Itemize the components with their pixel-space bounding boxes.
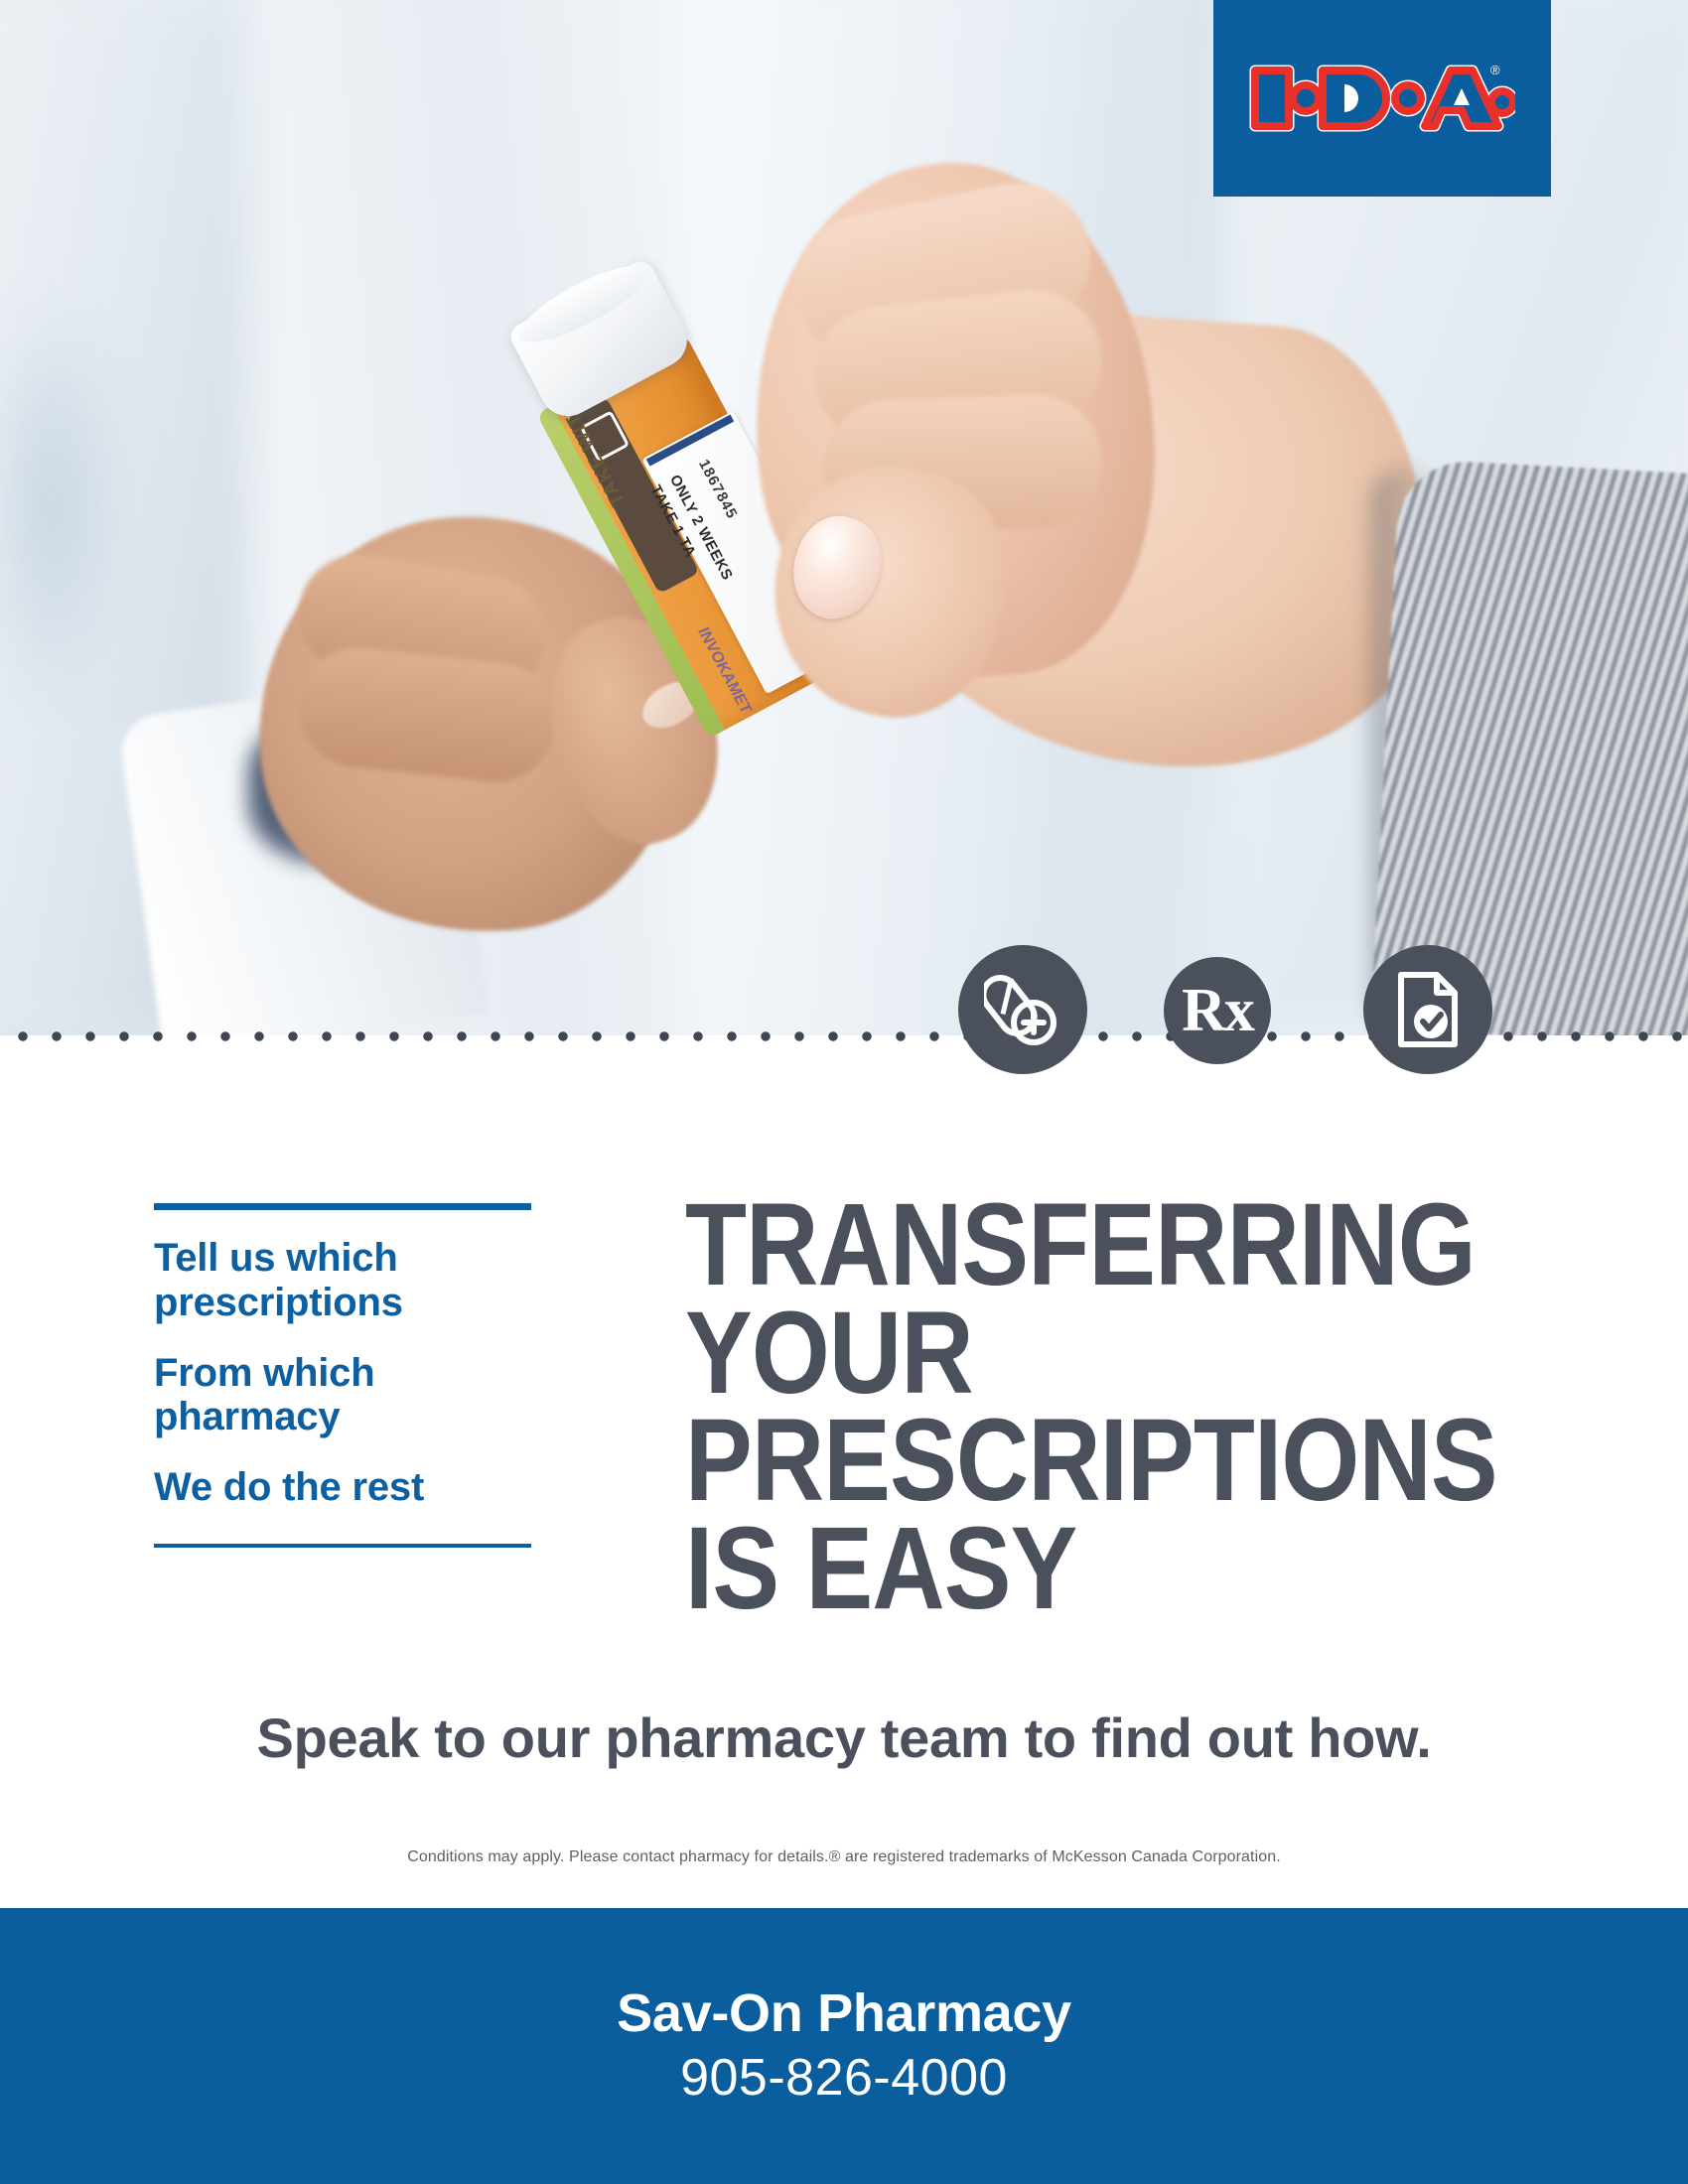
pharmacy-name: Sav-On Pharmacy [617,1981,1071,2047]
icon-row: Rx [0,945,1688,1126]
steps-list: Tell us which prescriptions From which p… [154,1203,531,1548]
rx-icon-label: Rx [1182,980,1253,1041]
steps-top-rule [154,1203,531,1210]
subheadline: Speak to our pharmacy team to find out h… [0,1706,1688,1770]
background-blue-tint [0,298,129,715]
logo-registered-mark: ® [1490,63,1500,77]
step-item-3: We do the rest [154,1465,531,1510]
rx-icon: Rx [1164,957,1271,1064]
document-check-icon [1363,945,1492,1074]
step-item-1: Tell us which prescriptions [154,1236,531,1325]
step-item-2: From which pharmacy [154,1351,531,1440]
pills-plus-icon [958,945,1087,1074]
footer-bar: Sav-On Pharmacy 905-826-4000 [0,1908,1688,2184]
ida-logo: ® [1213,0,1551,197]
legal-fineprint: Conditions may apply. Please contact pha… [0,1848,1688,1866]
headline-line-4: IS EASY [685,1515,1479,1623]
ida-logo-mark: ® [1249,51,1515,146]
headline-line-1: TRANSFERRING [685,1191,1479,1299]
headline-line-2: YOUR [685,1299,1479,1408]
headline-line-3: PRESCRIPTIONS [685,1407,1479,1515]
steps-bottom-rule [154,1544,531,1548]
pharmacy-phone[interactable]: 905-826-4000 [680,2047,1008,2110]
steps-spacer [154,1510,531,1544]
page-title: TRANSFERRING YOUR PRESCRIPTIONS IS EASY [685,1191,1479,1622]
